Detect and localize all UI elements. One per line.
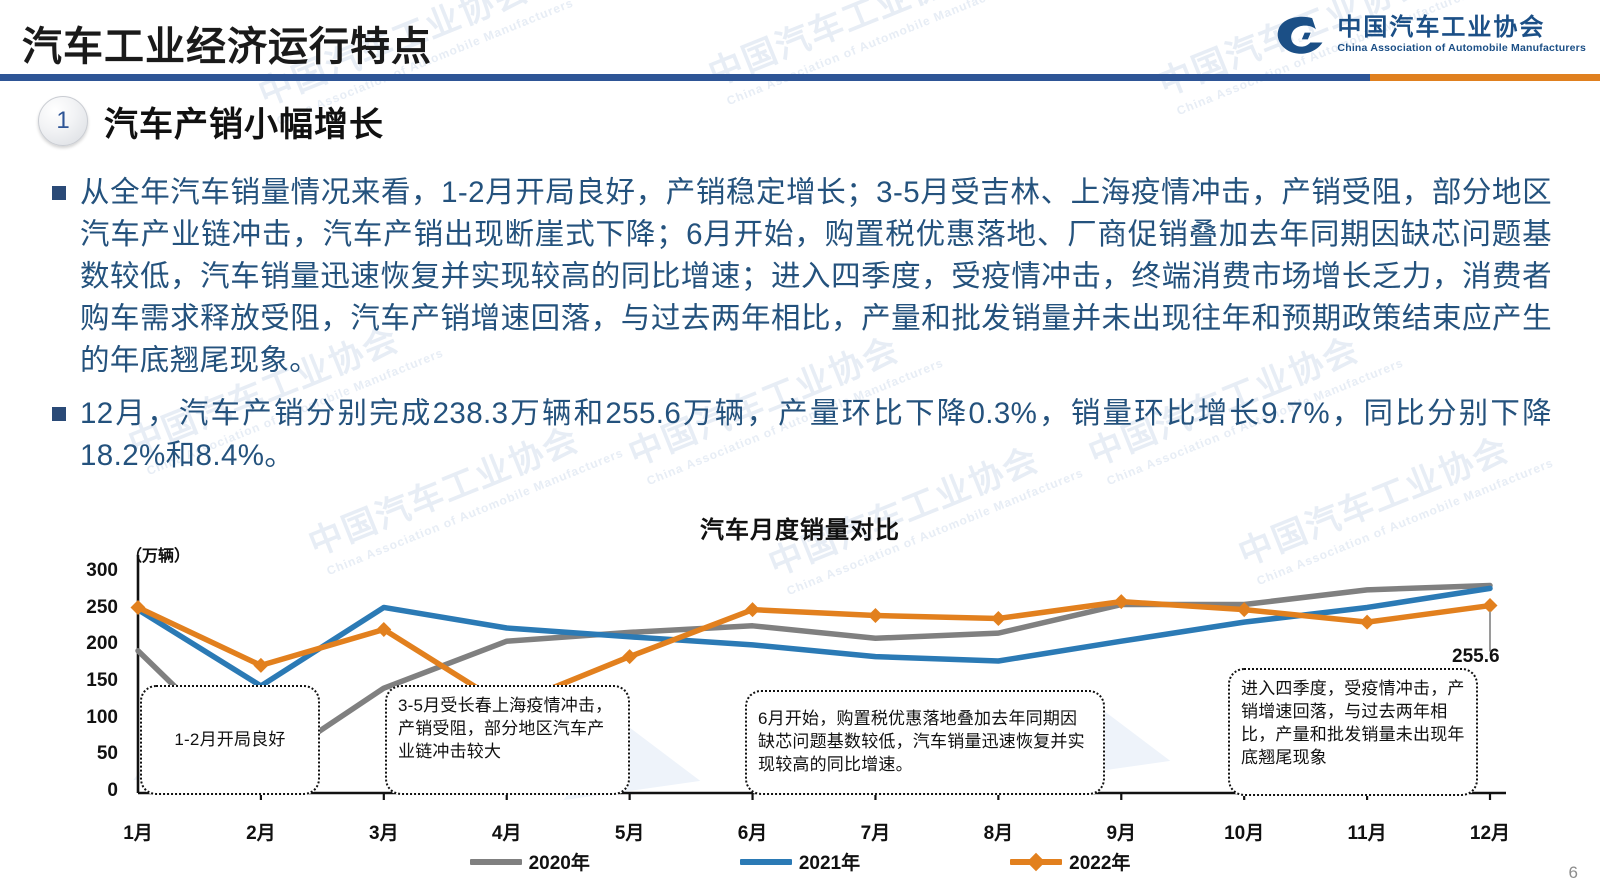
chart-container: 汽车月度销量对比 （万辆） 050100150200250300 1月2月3月4… <box>0 500 1600 895</box>
legend-swatch <box>1010 859 1062 865</box>
y-axis-tick: 100 <box>58 707 118 729</box>
bullet-list: 从全年汽车销量情况来看，1-2月开局良好，产销稳定增长；3-5月受吉林、上海疫情… <box>52 172 1552 489</box>
x-axis-tick: 11月 <box>1337 818 1397 845</box>
y-axis-tick: 300 <box>58 560 118 582</box>
watermark-cn: 中国汽车工业协会 <box>700 0 1020 95</box>
legend-label: 2020年 <box>529 848 590 875</box>
x-axis-tick: 6月 <box>723 818 783 845</box>
x-axis-tick: 9月 <box>1091 818 1151 845</box>
watermark-en: China Association of Automobile Manufact… <box>725 0 1026 108</box>
x-axis-tick: 3月 <box>354 818 414 845</box>
x-axis-tick: 7月 <box>845 818 905 845</box>
divider-orange-segment <box>1370 74 1600 81</box>
chart-annotation: 进入四季度，受疫情冲击，产销增速回落，与过去两年相比，产量和批发销量未出现年底翘… <box>1228 668 1478 796</box>
y-axis-tick: 50 <box>58 743 118 765</box>
slide-root: 中国汽车工业协会 China Association of Automobile… <box>0 0 1600 895</box>
chart-annotation: 6月开始，购置税优惠落地叠加去年同期因缺芯问题基数较低，汽车销量迅速恢复并实现较… <box>745 690 1105 795</box>
x-axis-tick: 8月 <box>968 818 1028 845</box>
legend-swatch <box>740 859 792 865</box>
caam-logo-en: China Association of Automobile Manufact… <box>1337 42 1586 55</box>
y-axis-tick: 150 <box>58 670 118 692</box>
header-divider <box>0 74 1600 81</box>
caam-logo-cn: 中国汽车工业协会 <box>1337 15 1586 40</box>
bullet-text: 从全年汽车销量情况来看，1-2月开局良好，产销稳定增长；3-5月受吉林、上海疫情… <box>80 172 1552 381</box>
y-axis-tick: 0 <box>58 780 118 802</box>
divider-navy-segment <box>0 74 1370 81</box>
legend-swatch <box>470 859 522 865</box>
chart-annotation: 3-5月受长春上海疫情冲击，产销受阻，部分地区汽车产业链冲击较大 <box>385 685 630 795</box>
caam-logo-icon <box>1271 12 1329 58</box>
x-axis-tick: 12月 <box>1460 818 1520 845</box>
page-number: 6 <box>1569 863 1578 883</box>
list-item: 从全年汽车销量情况来看，1-2月开局良好，产销稳定增长；3-5月受吉林、上海疫情… <box>52 172 1552 381</box>
legend-item: 2021年 <box>740 848 860 875</box>
section-title: 汽车产销小幅增长 <box>104 97 384 146</box>
chart-annotation: 1-2月开局良好 <box>140 685 320 795</box>
x-axis-tick: 2月 <box>231 818 291 845</box>
data-label: 255.6 <box>1452 646 1500 668</box>
y-axis-tick: 250 <box>58 597 118 619</box>
bullet-text: 12月，汽车产销分别完成238.3万辆和255.6万辆，产量环比下降0.3%，销… <box>80 393 1552 477</box>
legend-label: 2021年 <box>799 848 860 875</box>
caam-logo: 中国汽车工业协会 China Association of Automobile… <box>1271 12 1586 58</box>
legend-item: 2020年 <box>470 848 590 875</box>
section-number-badge: 1 <box>38 96 88 146</box>
legend-item: 2022年 <box>1010 848 1130 875</box>
bullet-square-icon <box>52 186 66 200</box>
bullet-square-icon <box>52 407 66 421</box>
caam-logo-text: 中国汽车工业协会 China Association of Automobile… <box>1337 15 1586 55</box>
y-axis-tick: 200 <box>58 633 118 655</box>
list-item: 12月，汽车产销分别完成238.3万辆和255.6万辆，产量环比下降0.3%，销… <box>52 393 1552 477</box>
x-axis-tick: 10月 <box>1214 818 1274 845</box>
legend-label: 2022年 <box>1069 848 1130 875</box>
x-axis-tick: 4月 <box>477 818 537 845</box>
x-axis-tick: 1月 <box>108 818 168 845</box>
page-title: 汽车工业经济运行特点 <box>22 14 432 72</box>
section-heading: 1 汽车产销小幅增长 <box>38 96 384 146</box>
chart-legend: 2020年2021年2022年 <box>0 848 1600 875</box>
legend-diamond-icon <box>1027 852 1045 870</box>
chart-plot-area: 050100150200250300 1月2月3月4月5月6月7月8月9月10月… <box>0 500 1600 840</box>
watermark: 中国汽车工业协会 China Association of Automobile… <box>700 0 1026 110</box>
x-axis-tick: 5月 <box>600 818 660 845</box>
